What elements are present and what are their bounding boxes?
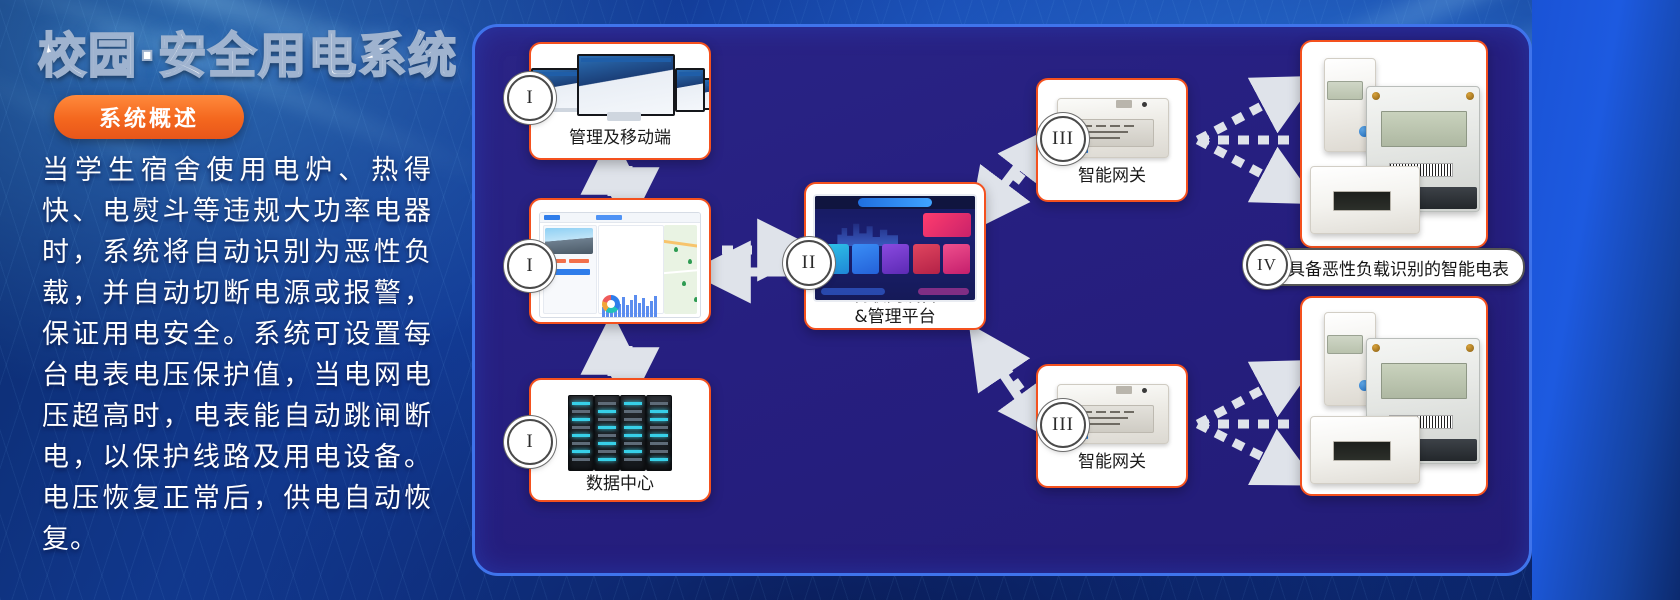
panel-smart-meters-top[interactable] (1300, 40, 1488, 248)
node-smart-campus-platform[interactable]: 智慧校园平台 (529, 198, 711, 324)
server-rack-icon (531, 392, 709, 472)
meter-group-caption[interactable]: IV 具备恶性负载识别的智能电表 (1246, 248, 1525, 286)
node-label: 管理及移动端 (569, 128, 671, 149)
din-rail-meter-icon (1310, 410, 1418, 488)
step-badge-i: I (507, 75, 553, 121)
devices-icon (531, 52, 709, 128)
page-title: 校园·安全用电系统 (38, 16, 458, 86)
step-badge-ii: II (786, 240, 832, 286)
step-badge-i: I (507, 419, 553, 465)
step-badge-iii: III (1040, 402, 1086, 448)
step-badge-iv: IV (1246, 244, 1288, 286)
meter-group-label: 具备恶性负载识别的智能电表 (1288, 255, 1509, 280)
step-badge-iii: III (1040, 116, 1086, 162)
poster-root: 校园·安全用电系统 系统概述 当学生宿舍使用电炉、热得快、电熨斗等违规大功率电器… (0, 0, 1680, 600)
node-admin-mobile[interactable]: 管理及移动端 (529, 42, 711, 160)
dashboard-icon (531, 208, 709, 297)
node-label: 智能网关 (1078, 452, 1146, 473)
right-background-strip (1532, 0, 1680, 600)
panel-smart-meters-bottom[interactable] (1300, 296, 1488, 496)
overview-description: 当学生宿舍使用电炉、热得快、电熨斗等违规大功率电器时，系统将自动识别为恶性负载，… (42, 150, 432, 560)
node-label-second-line: &管理平台 (854, 307, 935, 328)
node-label: 数据中心 (586, 474, 654, 495)
iot-platform-icon (806, 188, 984, 286)
din-rail-meter-icon (1310, 160, 1418, 238)
section-badge-overview: 系统概述 (54, 95, 244, 139)
node-data-center[interactable]: 数据中心 (529, 378, 711, 502)
node-label: 智能网关 (1078, 166, 1146, 187)
intro-column: 校园·安全用电系统 系统概述 当学生宿舍使用电炉、热得快、电熨斗等违规大功率电器… (0, 0, 470, 600)
step-badge-i: I (507, 243, 553, 289)
node-iot-platform[interactable]: 物联网设备 &管理平台 (804, 182, 986, 330)
